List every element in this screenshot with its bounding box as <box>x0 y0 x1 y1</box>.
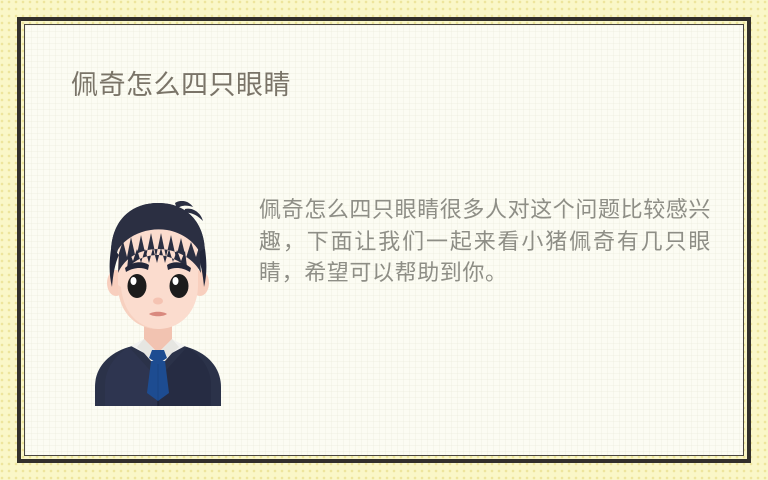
avatar-illustration-svg <box>89 201 227 406</box>
eye-left <box>128 274 147 298</box>
nose <box>153 298 163 305</box>
content-canvas: 佩奇怎么四只眼睛 <box>24 24 744 456</box>
tie <box>147 350 169 401</box>
page-title: 佩奇怎么四只眼睛 <box>71 69 291 103</box>
avatar <box>89 201 227 406</box>
page-background: 佩奇怎么四只眼睛 <box>0 0 768 480</box>
article-body-text: 佩奇怎么四只眼睛很多人对这个问题比较感兴趣，下面让我们一起来看小猪佩奇有几只眼睛… <box>259 195 711 290</box>
eye-right <box>170 274 189 298</box>
article-content-row: 佩奇怎么四只眼睛很多人对这个问题比较感兴趣，下面让我们一起来看小猪佩奇有几只眼睛… <box>25 195 743 435</box>
